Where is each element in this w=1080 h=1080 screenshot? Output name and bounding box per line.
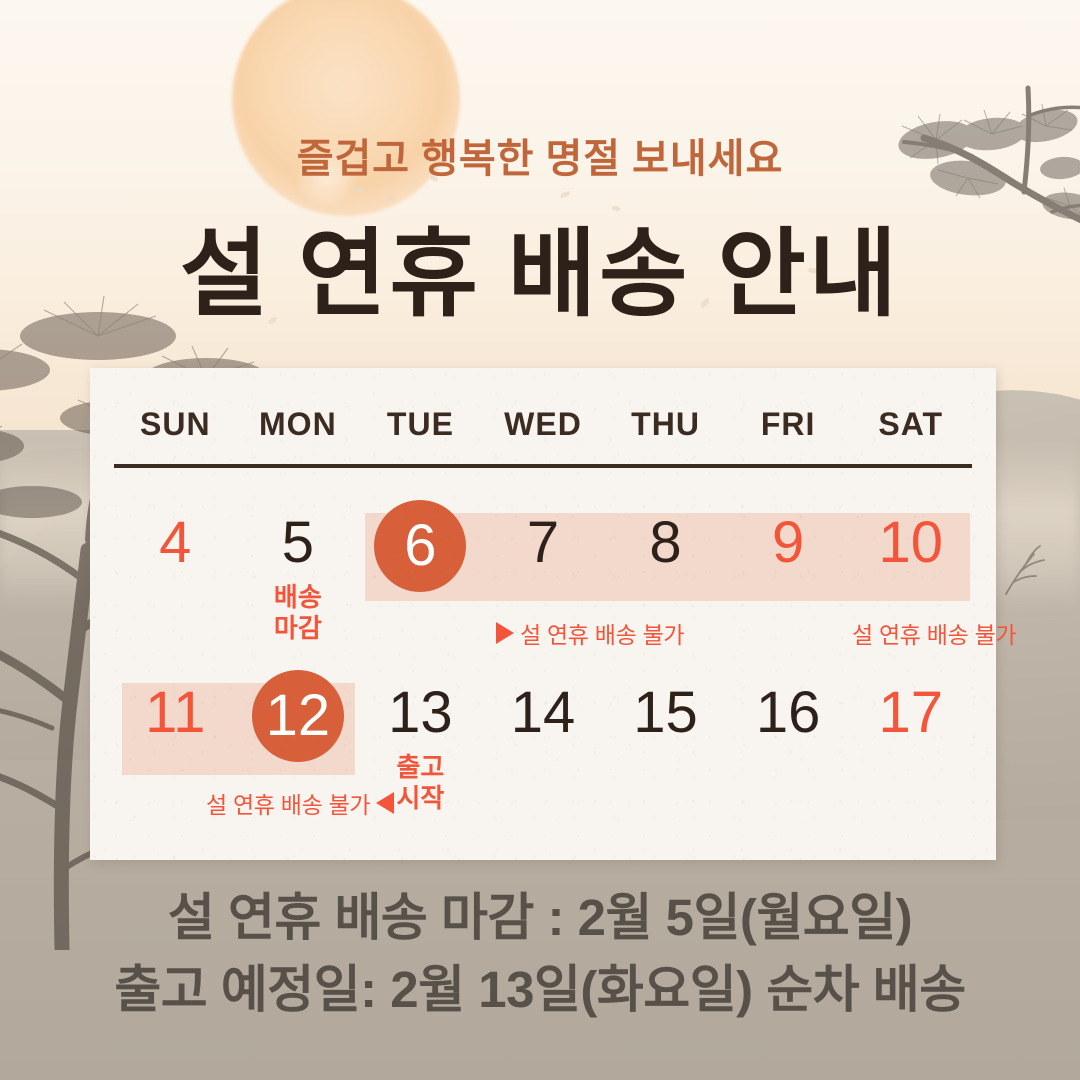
day-cell[interactable]: 5 배송 마감 <box>237 494 360 664</box>
day-sublabel: 배송 마감 <box>250 582 346 644</box>
day-number: 15 <box>623 670 709 756</box>
day-number: 16 <box>745 670 831 756</box>
holiday-note-text: 설 연휴 배송 불가 <box>520 616 684 650</box>
weekday-wed: WED <box>482 406 605 443</box>
poster-subtitle: 즐겁고 행복한 명절 보내세요 <box>0 126 1080 184</box>
day-number: 9 <box>745 500 831 586</box>
header-divider <box>114 464 972 468</box>
holiday-note-text: 설 연휴 배송 불가 <box>852 616 1016 650</box>
calendar-card: SUN MON TUE WED THU FRI SAT 4 5 배송 마감 6 <box>90 368 996 860</box>
footer-notice: 설 연휴 배송 마감 : 2월 5일(월요일) 출고 예정일: 2월 13일(화… <box>0 882 1080 1026</box>
day-cell[interactable]: 14 <box>482 664 605 834</box>
day-number: 13 <box>377 670 463 756</box>
weekday-tue: TUE <box>359 406 482 443</box>
day-number: 10 <box>868 500 954 586</box>
day-number: 4 <box>132 500 218 586</box>
day-number: 14 <box>500 670 586 756</box>
weekday-sun: SUN <box>114 406 237 443</box>
footer-line-shipping: 출고 예정일: 2월 13일(화요일) 순차 배송 <box>0 954 1080 1026</box>
day-number: 17 <box>868 670 954 756</box>
weekday-sat: SAT <box>849 406 972 443</box>
page-title: 설 연휴 배송 안내 <box>0 196 1080 335</box>
day-cell[interactable]: 9 <box>727 494 850 664</box>
footer-line-deadline: 설 연휴 배송 마감 : 2월 5일(월요일) <box>0 882 1080 954</box>
holiday-note-week1-left: 설 연휴 배송 불가 <box>496 616 684 650</box>
day-number: 11 <box>132 670 218 756</box>
holiday-note-week2-left: 설 연휴 배송 불가 <box>206 786 394 820</box>
day-cell[interactable]: 16 <box>727 664 850 834</box>
weekday-thu: THU <box>604 406 727 443</box>
day-cell[interactable]: 15 <box>604 664 727 834</box>
holiday-note-week1-right: 설 연휴 배송 불가 <box>852 616 1016 650</box>
day-number: 5 <box>255 500 341 586</box>
arrow-right-icon <box>496 622 514 644</box>
weekday-header-row: SUN MON TUE WED THU FRI SAT <box>114 396 972 452</box>
weekday-mon: MON <box>237 406 360 443</box>
day-number: 7 <box>500 500 586 586</box>
day-number: 12 <box>252 670 344 762</box>
day-cell[interactable]: 4 <box>114 494 237 664</box>
day-cell[interactable]: 6 <box>359 494 482 664</box>
day-number: 8 <box>623 500 709 586</box>
twig-icon <box>1000 540 1060 600</box>
day-number: 6 <box>374 500 466 592</box>
arrow-left-icon <box>376 792 394 814</box>
holiday-note-text: 설 연휴 배송 불가 <box>206 786 370 820</box>
day-cell[interactable]: 17 <box>849 664 972 834</box>
weekday-fri: FRI <box>727 406 850 443</box>
